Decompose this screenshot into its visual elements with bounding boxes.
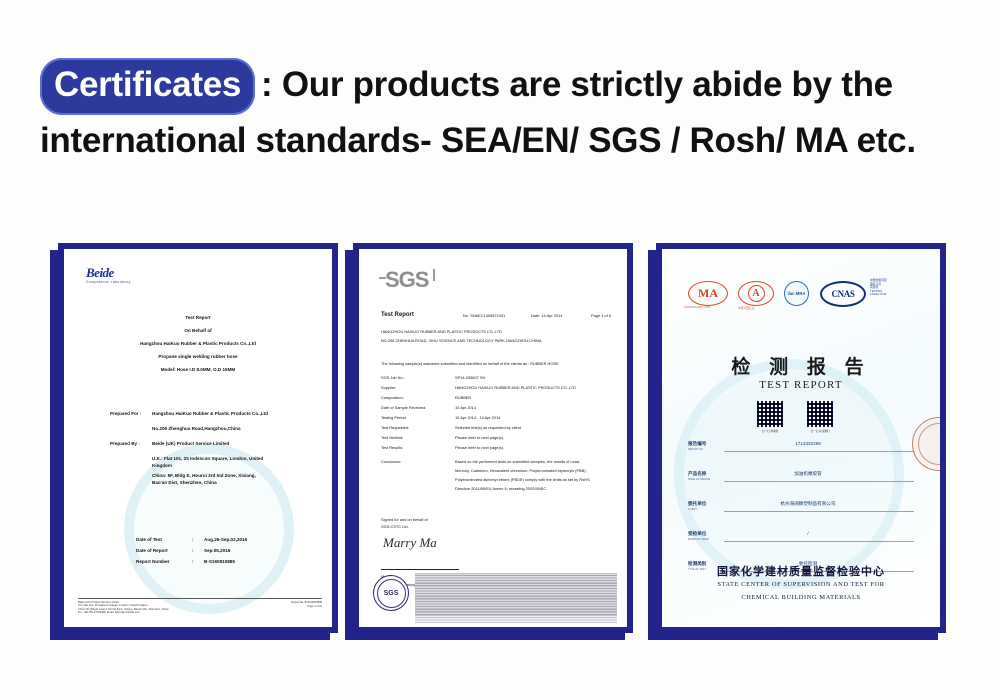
sgs-seal-label: SGS (377, 579, 406, 608)
cma-a-logo-icon: A (738, 281, 774, 306)
cert2-row-value-8: Based on the performed tests on submitte… (455, 459, 580, 464)
cert2-handwritten-signature: Marry Ma (383, 535, 437, 551)
beide-logo: Beide (86, 265, 114, 281)
ma-logo-icon: MA (688, 281, 728, 306)
headline-colon: : (261, 65, 272, 104)
cert1-footer-line-3: Tel : +86-755-27644488, Email: falcon@cn… (78, 611, 322, 615)
cert3-field-rule-2 (724, 511, 914, 512)
cert1-paper: Beide Competence Laboratory Test Report … (64, 249, 332, 627)
cert2-intro: The following sample(s) was/were submitt… (381, 361, 559, 366)
cert2-row-value-0: SP14-005607 SH (455, 375, 485, 380)
cert3-field-rule-3 (724, 541, 914, 542)
page-headline: Certificates: Our products are strictly … (40, 58, 980, 167)
cert1-date-value-0: Aug.26-Sep.02,2016 (204, 537, 247, 542)
cert2-conclusion-cont-1: Polybrominated diphenyl ethers (PBDE) co… (455, 477, 590, 482)
cert2-report-no: No. SHAEC1405871001 (463, 313, 505, 318)
cert2-row-label-4: Testing Period: (381, 415, 407, 420)
cert3-field-value-1: 加油机橡胶管 (728, 471, 888, 477)
cert1-date-sep-0: : (192, 537, 194, 542)
cert2-client-line-1: NO.298 ZHENHUA ROAD, XIHU SCIENCE AND TE… (381, 338, 541, 343)
cert2-row-value-1: HANGZHOU HAIKUO RUBBER AND PLASTIC PRODU… (455, 385, 576, 390)
certificate-sgs[interactable]: SGS Test Report No. SHAEC1405871001 Date… (353, 243, 633, 633)
cert3-field-value-2: 杭州海阔橡塑制品有限公司 (728, 501, 888, 507)
cert2-row-label-7: Test Results: (381, 445, 403, 450)
cert1-date-label-2: Report Number (136, 559, 169, 564)
cert2-row-value-2: RUBBER (455, 395, 471, 400)
cert2-row-label-0: SGS Job No.: (381, 375, 405, 380)
cert3-field-value-3: / (728, 531, 888, 536)
cnas-logo-icon: CNAS (820, 281, 866, 307)
cert2-row-value-7: Please refer to next page(s). (455, 445, 504, 450)
qr-code-verify-icon[interactable] (757, 401, 783, 427)
cert1-watermark (124, 444, 294, 614)
cert1-title-1: On Behalf of (64, 328, 332, 333)
cnas-side-text-4: CNAS L0746 (870, 293, 887, 297)
cert1-footer: Beide (UK) Product Service Limited U.K. … (78, 598, 322, 615)
cnas-side-text: 中国合格评定 国家认可 实验室 TESTING CNAS L0746 (870, 279, 887, 297)
beide-logo-subtitle: Competence Laboratory (86, 280, 131, 284)
cert3-field-value-0: 1713332298 (728, 441, 888, 446)
cert3-field-rule-1 (724, 481, 914, 482)
cert3-field-cn-3: 受检单位 (688, 531, 706, 537)
headline-line2: international standards- SEA/EN/ SGS / R… (40, 121, 916, 160)
certificates-badge: Certificates (40, 58, 255, 115)
cert1-title-4: Model: Hose I.D 8.0MM, O.D 15MM (64, 367, 332, 372)
cert2-conclusion-cont-0: Mercury, Cadmium, Hexavalent chromium, P… (455, 468, 587, 473)
cert1-title-2: Hangzhou HaiKuo Rubber & Plastic Product… (64, 341, 332, 346)
cert1-date-sep-2: : (192, 559, 194, 564)
qr-code-verify-caption: 扫一扫 查真伪 (748, 429, 792, 433)
cert2-report-date: Date: 14 Apr 2014 (531, 313, 562, 318)
cert1-date-label-1: Date of Report (136, 548, 168, 553)
cert3-title-en: TEST REPORT (662, 379, 940, 391)
cert1-field-value-1: No.206 Zhenghua Road,Hangzhou,China (152, 426, 241, 431)
cert1-title-0: Test Report (64, 315, 332, 320)
cert2-row-label-1: Supplier: (381, 385, 396, 390)
cert2-signature-rule (381, 569, 459, 570)
sgs-logo: SGS (385, 267, 428, 293)
cma-a-logo-caption: 中国计量认证 (738, 306, 755, 310)
cert2-signed-for-line-1: SGS-CSTC Ltd. (381, 524, 409, 529)
cert3-field-en-1: NAME OF SAMPLE (688, 478, 710, 481)
cert1-field-value-4: Kingdom (152, 463, 172, 468)
cert2-row-label-6: Test Method: (381, 435, 403, 440)
ma-logo-caption: 190002112097 CMA (684, 306, 711, 309)
cert2-row-value-5: Selected test(s) as requested by client (455, 425, 521, 430)
cert2-row-value-3: 10 Apr 2014 (455, 405, 476, 410)
cert2-footer-block-secondary (415, 615, 617, 623)
cert2-conclusion-cont-2: Directive 2011/65/EU Annex II; recasting… (455, 486, 547, 491)
cert2-footer-block (415, 573, 617, 615)
cert1-field-value-2: Beide (UK) Product Service Limited (152, 441, 229, 446)
cert1-footer-page: Page 1 of 11 (291, 605, 322, 610)
cert3-field-cn-1: 产品名称 (688, 471, 706, 477)
cert2-row-label-3: Date of Sample Received: (381, 405, 426, 410)
cert1-date-label-0: Date of Test (136, 537, 162, 542)
certificate-beide[interactable]: Beide Competence Laboratory Test Report … (58, 243, 338, 633)
cert2-signed-for-line-0: Signed for and on behalf of (381, 517, 428, 522)
cert3-paper: MA 190002112097 CMA A 中国计量认证 ilac-MRA CN… (662, 249, 940, 627)
cert3-org-name-en-line2: CHEMICAL BUILDING MATERIALS (662, 594, 940, 601)
cert3-field-rule-0 (724, 451, 914, 452)
cert3-field-cn-0: 报告编号 (688, 441, 706, 447)
cert1-date-value-2: B-S160810885 (204, 559, 235, 564)
cert1-date-value-1: Sep.05,2016 (204, 548, 230, 553)
cert1-title-3: Propane single welding rubber hose (64, 354, 332, 359)
cert2-report-page: Page 1 of 5 (591, 313, 611, 318)
cert3-title-cn: 检 测 报 告 (662, 352, 940, 379)
cert2-row-value-4: 10 Apr 2014 - 14 Apr 2014 (455, 415, 500, 420)
cert1-date-sep-1: : (192, 548, 194, 553)
cert3-field-en-2: CLIENT (688, 508, 697, 511)
cert3-field-en-0: REPORT NO. (688, 448, 703, 451)
cert1-field-label-2: Prepared By : (110, 441, 140, 446)
cert1-footer-right: Report No. B-S160810885 Page 1 of 11 (291, 601, 322, 610)
cert2-row-label-5: Test Requested: (381, 425, 409, 430)
cert1-field-label-0: Prepared For : (110, 411, 141, 416)
cert1-field-value-6: Bao'an Dist, Shenzhen, China (152, 480, 217, 485)
cert3-field-cn-2: 委托单位 (688, 501, 706, 507)
cert1-field-value-5: China: 5F, Bldg E, Hourui 3rd Ind Zone, … (152, 473, 256, 478)
headline-line1: Our products are strictly abide by the (282, 65, 893, 104)
cert2-row-value-6: Please refer to next page(s). (455, 435, 504, 440)
ilac-mra-logo-icon: ilac-MRA (784, 281, 809, 306)
qr-code-follow-caption: 扫一扫 关注我们 (798, 429, 842, 433)
cert2-paper: SGS Test Report No. SHAEC1405871001 Date… (359, 249, 627, 627)
cert2-client-line-0: HANGZHOU HAIKUO RUBBER AND PLASTIC PRODU… (381, 329, 502, 334)
qr-code-follow-icon[interactable] (807, 401, 833, 427)
cert2-row-label-2: Composition: (381, 395, 404, 400)
cert1-field-value-3: U.K.: Flat 101, 25 Indescon Square, Lond… (152, 456, 263, 461)
cert1-field-value-0: Hangzhou HaiKuo Rubber & Plastic Product… (152, 411, 268, 416)
cert3-org-name-en-line1: STATE CENTER OF SUPERVISION AND TEST FOR (662, 581, 940, 588)
cert3-field-en-3: MANUFACTURER (688, 538, 709, 541)
sgs-round-seal-icon: SGS (373, 575, 409, 611)
cert3-org-name-cn: 国家化学建材质量监督检验中心 (662, 563, 940, 579)
cert2-row-label-8: Conclusion: (381, 459, 401, 464)
certificate-ma-cnas[interactable]: MA 190002112097 CMA A 中国计量认证 ilac-MRA CN… (656, 243, 946, 633)
cert2-report-title: Test Report (381, 312, 414, 318)
